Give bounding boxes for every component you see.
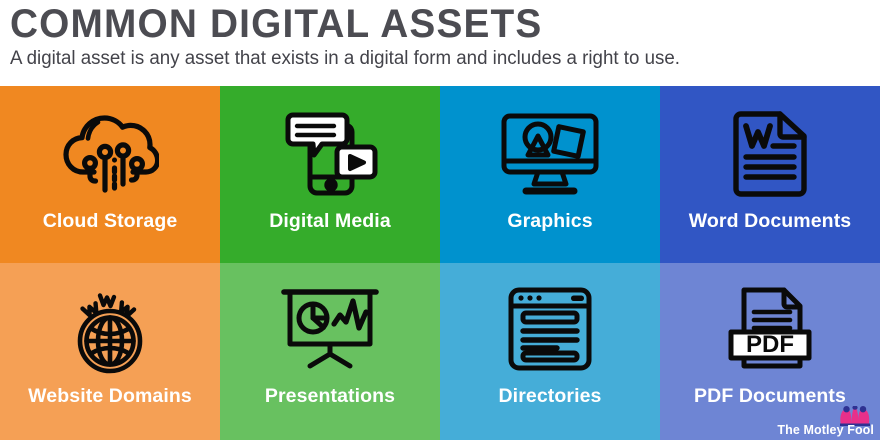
page-subtitle: A digital asset is any asset that exists… <box>10 47 857 71</box>
word-document-icon <box>732 108 808 200</box>
presentation-board-icon <box>280 283 380 375</box>
tile-directories[interactable]: Directories <box>440 263 660 440</box>
header: COMMON DIGITAL ASSETS A digital asset is… <box>0 0 880 86</box>
browser-window-icon <box>507 283 593 375</box>
tile-digital-media[interactable]: Digital Media <box>220 86 440 263</box>
svg-text:PDF: PDF <box>746 331 794 358</box>
tile-graphics[interactable]: Graphics <box>440 86 660 263</box>
tile-presentations[interactable]: Presentations <box>220 263 440 440</box>
infographic-root: COMMON DIGITAL ASSETS A digital asset is… <box>0 0 880 440</box>
tile-website-domains[interactable]: Website Domains <box>0 263 220 440</box>
tile-label: Word Documents <box>689 210 851 233</box>
www-globe-icon <box>64 283 156 375</box>
tile-label: Digital Media <box>269 210 391 233</box>
tile-label: Presentations <box>265 385 395 408</box>
tile-label: Graphics <box>507 210 592 233</box>
tile-label: Directories <box>499 385 602 408</box>
tile-pdf-documents[interactable]: PDF PDF Documents The Motley Fool <box>660 263 880 440</box>
page-title: COMMON DIGITAL ASSETS <box>10 2 844 46</box>
pdf-document-icon: PDF <box>726 283 814 375</box>
brand-name: The Motley Fool <box>777 424 874 437</box>
tile-label: Cloud Storage <box>43 210 178 233</box>
tile-cloud-storage[interactable]: Cloud Storage <box>0 86 220 263</box>
cloud-circuit-icon <box>61 108 159 200</box>
tile-label: Website Domains <box>28 385 192 408</box>
asset-grid: Cloud Storage <box>0 86 880 440</box>
brand-logo: The Motley Fool <box>777 406 874 437</box>
monitor-shapes-icon <box>500 108 600 200</box>
phone-media-icon <box>282 108 378 200</box>
tile-word-documents[interactable]: Word Documents <box>660 86 880 263</box>
